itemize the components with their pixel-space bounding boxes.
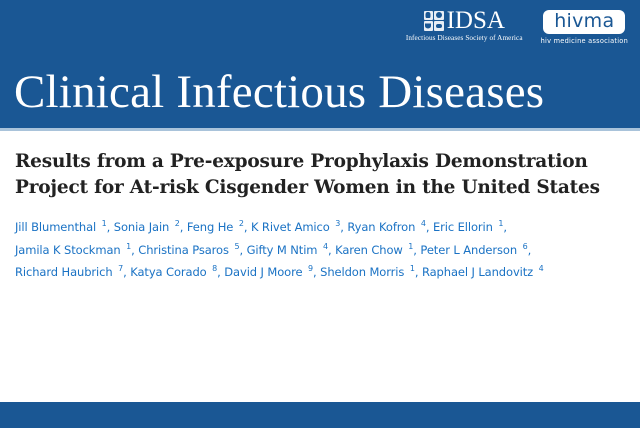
author-link[interactable]: Peter L Anderson 6 bbox=[420, 243, 527, 257]
author-affiliation-marker[interactable]: 4 bbox=[321, 242, 328, 251]
author-separator: , bbox=[244, 220, 251, 234]
author-link[interactable]: Richard Haubrich 7 bbox=[15, 265, 123, 279]
author-link[interactable]: Sheldon Morris 1 bbox=[320, 265, 415, 279]
author-link[interactable]: Jamila K Stockman 1 bbox=[15, 243, 131, 257]
author-affiliation-marker[interactable]: 1 bbox=[100, 219, 107, 228]
hivma-logo[interactable]: hivma hiv medicine association bbox=[541, 8, 628, 46]
author-link[interactable]: Raphael J Landovitz 4 bbox=[422, 265, 544, 279]
logo-row: IDSA Infectious Diseases Society of Amer… bbox=[406, 8, 628, 46]
idsa-tagline: Infectious Diseases Society of America bbox=[406, 34, 523, 43]
author-separator: , bbox=[503, 220, 507, 234]
article-title: Results from a Pre-exposure Prophylaxis … bbox=[0, 131, 640, 201]
hivma-wordmark-box: hivma bbox=[543, 10, 625, 34]
author-link[interactable]: Feng He 2 bbox=[187, 220, 244, 234]
journal-title: Clinical Infectious Diseases bbox=[14, 66, 544, 118]
idsa-wordmark: IDSA bbox=[447, 8, 505, 33]
author-list: Jill Blumenthal 1, Sonia Jain 2, Feng He… bbox=[0, 201, 640, 284]
author-link[interactable]: Karen Chow 1 bbox=[335, 243, 413, 257]
author-link[interactable]: Katya Corado 8 bbox=[130, 265, 217, 279]
author-link[interactable]: Sonia Jain 2 bbox=[114, 220, 180, 234]
article-block: Results from a Pre-exposure Prophylaxis … bbox=[0, 131, 640, 284]
author-affiliation-marker[interactable]: 6 bbox=[521, 242, 528, 251]
article-header-page: IDSA Infectious Diseases Society of Amer… bbox=[0, 0, 640, 428]
author-link[interactable]: Christina Psaros 5 bbox=[138, 243, 239, 257]
author-link[interactable]: Jill Blumenthal 1 bbox=[15, 220, 107, 234]
author-link[interactable]: Eric Ellorin 1 bbox=[433, 220, 503, 234]
author-affiliation-marker[interactable]: 1 bbox=[408, 264, 415, 273]
idsa-logo[interactable]: IDSA Infectious Diseases Society of Amer… bbox=[406, 8, 523, 43]
journal-masthead: IDSA Infectious Diseases Society of Amer… bbox=[0, 0, 640, 128]
author-separator: , bbox=[528, 243, 532, 257]
author-affiliation-marker[interactable]: 2 bbox=[237, 219, 244, 228]
author-separator: , bbox=[239, 243, 246, 257]
author-separator: , bbox=[180, 220, 187, 234]
author-affiliation-marker[interactable]: 2 bbox=[173, 219, 180, 228]
idsa-logo-top: IDSA bbox=[424, 8, 505, 33]
author-affiliation-marker[interactable]: 4 bbox=[419, 219, 426, 228]
idsa-crest-icon bbox=[424, 11, 444, 31]
author-link[interactable]: K Rivet Amico 3 bbox=[251, 220, 340, 234]
author-separator: , bbox=[426, 220, 433, 234]
author-link[interactable]: David J Moore 9 bbox=[224, 265, 313, 279]
author-separator: , bbox=[415, 265, 422, 279]
author-link[interactable]: Gifty M Ntim 4 bbox=[247, 243, 328, 257]
hivma-wordmark: hivma bbox=[554, 10, 614, 32]
hivma-tagline: hiv medicine association bbox=[541, 36, 628, 46]
author-link[interactable]: Ryan Kofron 4 bbox=[347, 220, 425, 234]
author-affiliation-marker[interactable]: 9 bbox=[306, 264, 313, 273]
author-separator: , bbox=[328, 243, 335, 257]
author-affiliation-marker[interactable]: 4 bbox=[537, 264, 544, 273]
author-separator: , bbox=[107, 220, 114, 234]
footer-band bbox=[0, 402, 640, 428]
